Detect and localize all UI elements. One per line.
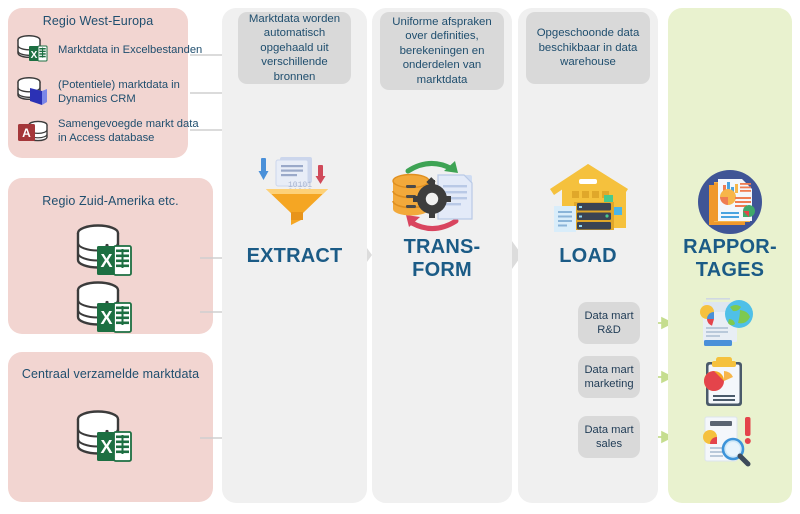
source-panel-title-2: Centraal verzamelde marktdata	[8, 367, 213, 381]
database-excel-icon: X	[72, 222, 136, 282]
stage-note-transform: Uniforme afspraken over definities, bere…	[380, 12, 504, 90]
stage-note-extract: Marktdata worden automatisch opgehaald u…	[238, 12, 351, 84]
source-item-label-0-1: (Potentiele) marktdata in Dynamics CRM	[58, 78, 208, 106]
access-database-icon: A	[16, 114, 50, 148]
svg-text:X: X	[31, 50, 38, 61]
clipboard-piechart-icon	[700, 355, 754, 409]
data-mart-sales[interactable]: Data mart sales	[578, 416, 640, 458]
data-mart-marketing[interactable]: Data mart marketing	[578, 356, 640, 398]
svg-text:A: A	[22, 126, 31, 140]
data-mart-sales-line1: Data mart	[584, 424, 633, 436]
data-mart-sales-line2: sales	[596, 438, 622, 450]
source-item-0-2: A Samengevoegde markt data in Access dat…	[16, 114, 208, 148]
diagram-canvas: Regio West-Europa X M	[0, 0, 800, 514]
report-globe-icon	[694, 295, 758, 353]
stage-label-transform-line2: FORM	[412, 259, 472, 281]
svg-text:X: X	[100, 437, 112, 457]
stage-label-transform: TRANS-FORM	[372, 236, 512, 282]
stage-label-extract: EXTRACT	[222, 245, 367, 268]
stage-label-rapportages-line2: TAGES	[696, 259, 764, 281]
database-excel-icon: X	[72, 408, 136, 468]
svg-text:X: X	[100, 308, 112, 328]
warehouse-server-icon	[548, 162, 630, 234]
data-mart-rd[interactable]: Data mart R&D	[578, 302, 640, 344]
svg-text:X: X	[100, 251, 112, 271]
database-excel-icon: X	[72, 279, 136, 339]
database-excel-icon: X	[16, 33, 50, 67]
database-dynamics-icon	[16, 75, 50, 109]
funnel-data-icon: 10101 01010	[250, 155, 340, 225]
report-magnifier-alert-icon	[697, 412, 759, 470]
stage-label-load: LOAD	[518, 245, 658, 268]
stage-label-rapportages: RAPPOR-TAGES	[668, 236, 792, 282]
source-item-label-0-0: Marktdata in Excelbestanden	[58, 43, 202, 57]
stage-note-load: Opgeschoonde data beschikbaar in data wa…	[526, 12, 650, 84]
stage-label-rapportages-line1: RAPPOR-	[683, 236, 777, 258]
data-mart-marketing-line2: marketing	[584, 378, 633, 390]
data-mart-rd-line1: Data mart	[584, 310, 633, 322]
source-panel-title-0: Regio West-Europa	[8, 14, 188, 28]
data-mart-rd-line2: R&D	[597, 324, 621, 336]
database-gear-document-icon	[386, 155, 481, 237]
data-mart-marketing-line1: Data mart	[584, 364, 633, 376]
source-item-0-1: (Potentiele) marktdata in Dynamics CRM	[16, 75, 208, 109]
reports-stack-icon	[695, 167, 765, 237]
source-item-label-0-2: Samengevoegde markt data in Access datab…	[58, 117, 208, 145]
source-item-0-0: X Marktdata in Excelbestanden	[16, 33, 202, 67]
source-panel-title-1: Regio Zuid-Amerika etc.	[8, 194, 213, 208]
stage-label-transform-line1: TRANS-	[404, 236, 481, 258]
